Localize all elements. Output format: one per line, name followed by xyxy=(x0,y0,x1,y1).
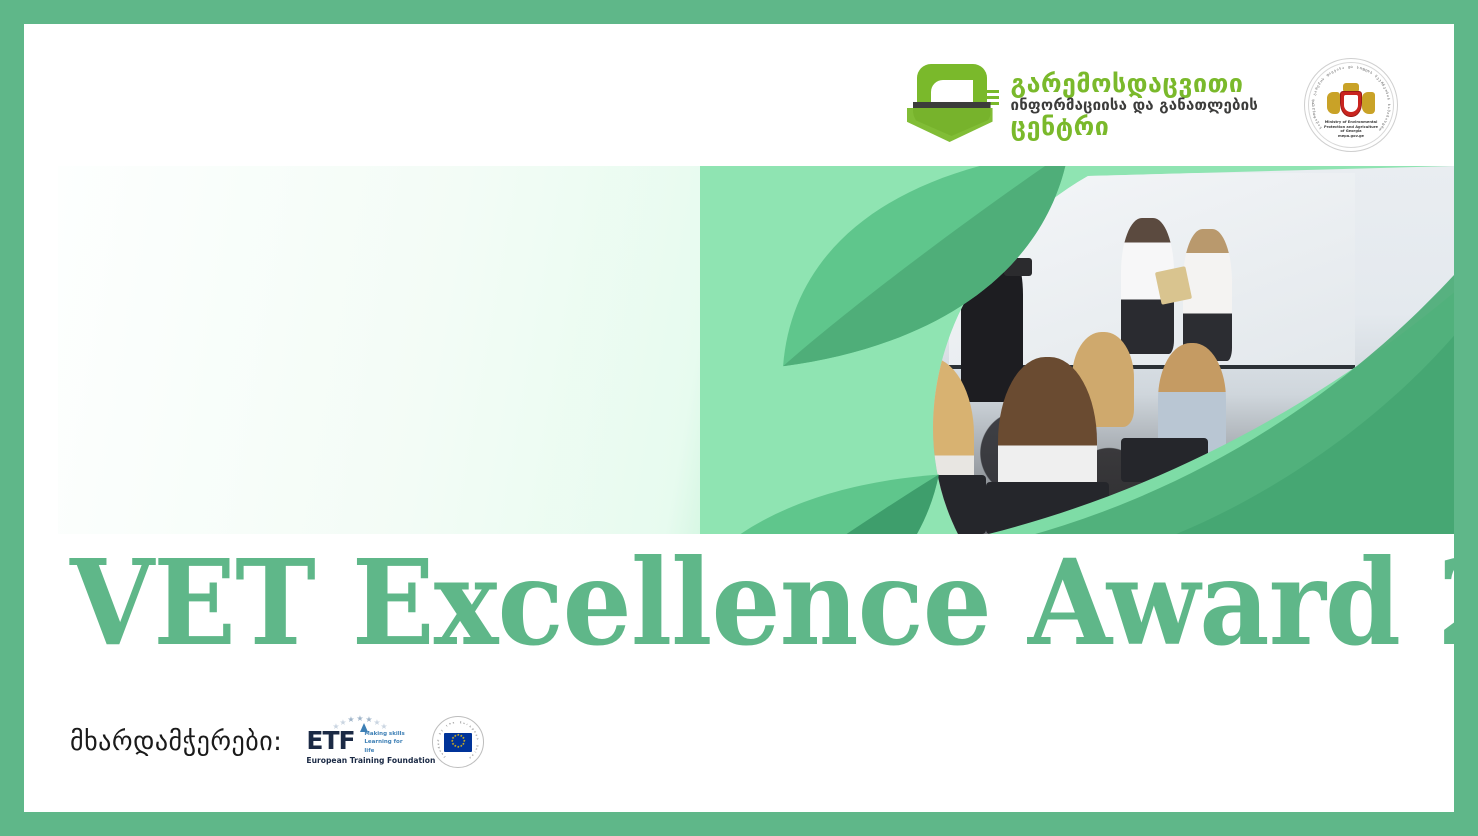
logo-band: გარემოსდაცვითი ინფორმაციისა და განათლები… xyxy=(24,24,1454,166)
leaf-sweep-right xyxy=(764,264,1454,534)
seal-sub-4: mepa.gov.ge xyxy=(1305,134,1397,138)
etf-tagline: Making skills Learning for life xyxy=(364,730,408,755)
seal-subtitle: Ministry of Environmental Protection and… xyxy=(1305,120,1397,138)
coat-of-arms-icon: საქართველოს გარემოს დაცვისა და სოფლის მე… xyxy=(1304,58,1398,152)
eiec-line-2: ინფორმაციისა და განათლების xyxy=(1011,97,1258,113)
supporters-row: მხარდამჭერები: ★★★★★★★ ETF Making skills… xyxy=(70,714,484,770)
supporters-label: მხარდამჭერები: xyxy=(70,727,282,757)
etf-tagline-2: Learning for life xyxy=(364,738,408,755)
poster-frame: გარემოსდაცვითი ინფორმაციისა და განათლები… xyxy=(0,0,1478,836)
hero-banner xyxy=(58,166,1454,534)
page-title: VET Excellence Award 2022 xyxy=(70,544,1303,662)
eiec-line-3: ცენტრი xyxy=(1011,113,1258,140)
eiec-logo: გარემოსდაცვითი ინფორმაციისა და განათლები… xyxy=(911,62,1258,148)
etf-full-name: European Training Foundation xyxy=(306,756,435,765)
etf-acronym: ETF xyxy=(306,726,354,755)
etf-logo: ★★★★★★★ ETF Making skills Learning for l… xyxy=(306,714,408,770)
etf-tagline-1: Making skills xyxy=(364,730,408,738)
eu-badge-logo: Funded by the European Union ★★★★★★★★★★★… xyxy=(432,716,484,768)
logo-row: გარემოსდაცვითი ინფორმაციისა და განათლები… xyxy=(911,58,1398,152)
eiec-line-1: გარემოსდაცვითი xyxy=(1011,70,1258,97)
leaf-book-logo-icon xyxy=(911,62,997,148)
eu-flag-icon: ★★★★★★★★★★★★ xyxy=(444,733,472,752)
poster-canvas: გარემოსდაცვითი ინფორმაციისა და განათლები… xyxy=(24,24,1454,812)
eiec-logo-text: გარემოსდაცვითი ინფორმაციისა და განათლები… xyxy=(1011,70,1258,140)
